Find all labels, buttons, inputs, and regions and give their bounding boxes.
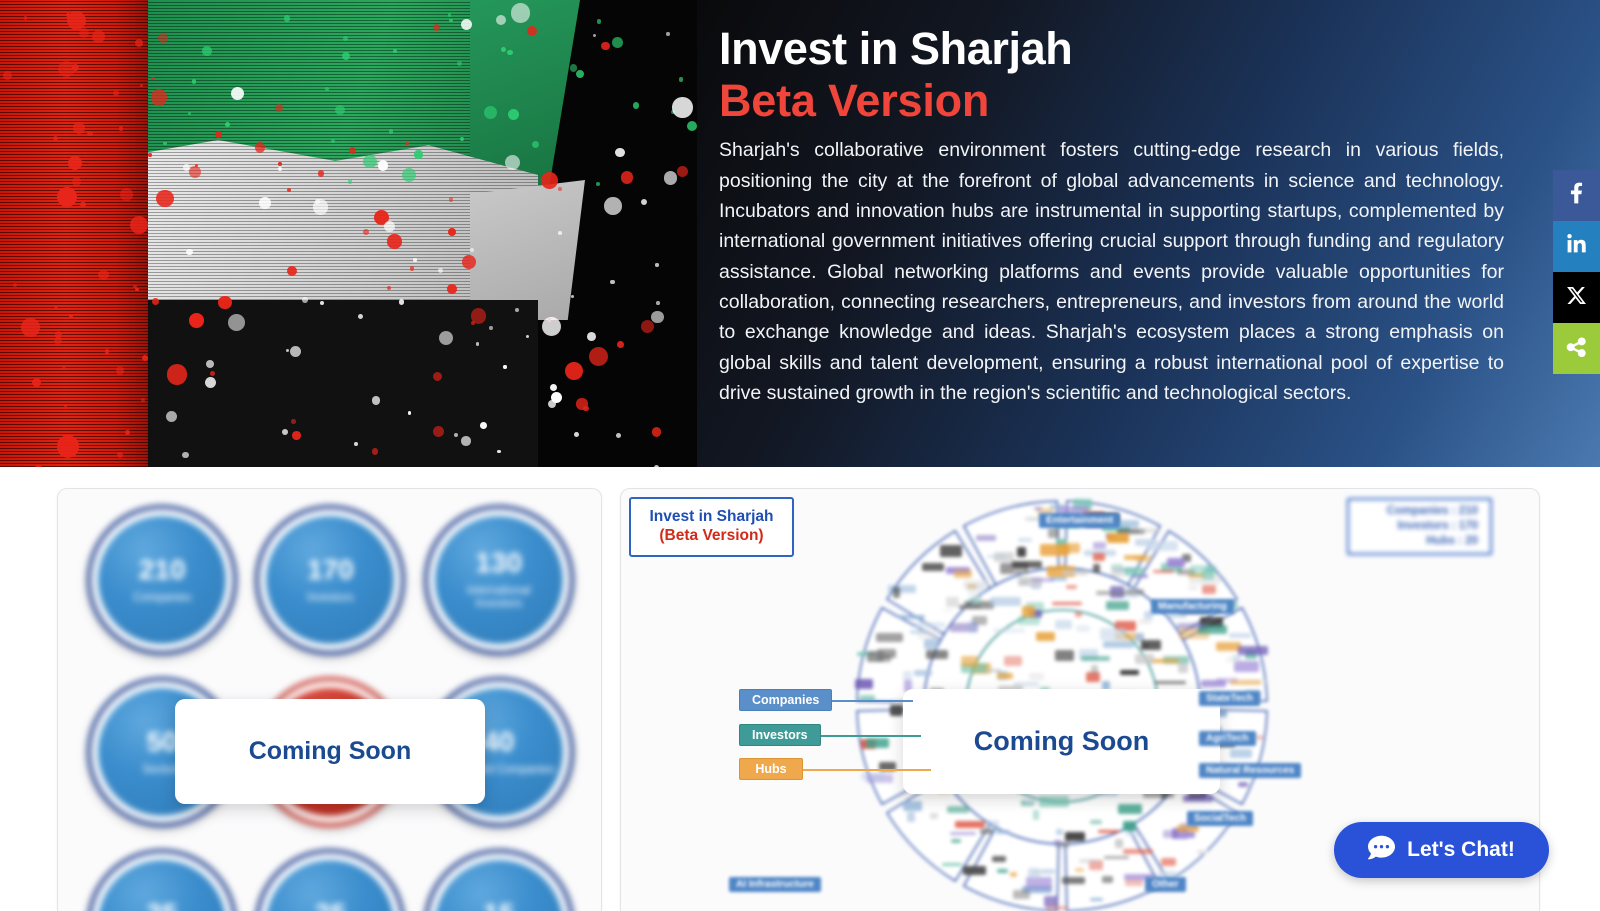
ecosystem-logo-tile xyxy=(993,628,1025,633)
ecosystem-title-box: Invest in Sharjah (Beta Version) xyxy=(629,497,794,557)
particle xyxy=(447,284,457,294)
particle xyxy=(218,296,232,310)
ecosystem-logo-tile xyxy=(1177,623,1206,629)
particle xyxy=(125,430,129,434)
linkedin-icon xyxy=(1566,234,1587,260)
ecosystem-logo-tile xyxy=(959,605,981,609)
particle xyxy=(325,87,329,91)
particle xyxy=(687,121,697,131)
particle xyxy=(215,131,222,138)
ecosystem-logo-tile xyxy=(951,839,960,843)
particle xyxy=(571,295,574,298)
sector-tag[interactable]: StateTech xyxy=(1199,691,1260,706)
ecosystem-logo-tile xyxy=(1123,849,1153,854)
particle xyxy=(679,77,683,81)
particle xyxy=(664,171,677,184)
share-facebook-button[interactable] xyxy=(1553,170,1600,221)
ecosystem-logo-tile xyxy=(1135,555,1152,561)
ecosystem-logo-tile xyxy=(963,866,987,875)
particle xyxy=(507,50,512,55)
particle xyxy=(550,384,557,391)
particle xyxy=(130,216,148,234)
ecosystem-logo-tile xyxy=(961,656,979,667)
stat-circle-inner: 130International Investors xyxy=(435,516,563,644)
ecosystem-logo-tile xyxy=(1075,612,1082,617)
ecosystem-logo-tile xyxy=(1090,820,1102,824)
ecosystem-logo-tile xyxy=(955,821,985,828)
ecosystem-logo-tile xyxy=(866,738,889,748)
particle xyxy=(633,102,639,108)
ecosystem-logo-tile xyxy=(946,597,959,607)
particle xyxy=(449,197,454,202)
particle xyxy=(542,317,561,336)
particle xyxy=(601,42,609,50)
particle xyxy=(142,355,148,361)
particle xyxy=(497,450,500,453)
particle xyxy=(454,433,458,437)
share-linkedin-button[interactable] xyxy=(1553,221,1600,272)
particle xyxy=(13,283,17,287)
total-investors: Investors : 170 xyxy=(1397,519,1478,534)
particle xyxy=(302,297,308,303)
stat-label: Companies xyxy=(133,592,191,605)
particle xyxy=(470,248,474,252)
particle xyxy=(167,364,188,385)
particle xyxy=(604,197,622,215)
particle xyxy=(672,97,692,117)
particle xyxy=(342,52,351,61)
ecosystem-logo-tile xyxy=(903,801,921,811)
ecosystem-logo-tile xyxy=(1096,591,1127,596)
particle xyxy=(202,46,212,56)
coming-soon-overlay-left: Coming Soon xyxy=(175,699,485,804)
ecosystem-logo-tile xyxy=(1135,654,1154,664)
particle xyxy=(189,166,201,178)
ecosystem-logo-tile xyxy=(968,597,982,604)
ecosystem-logo-tile xyxy=(1100,628,1126,640)
ecosystem-logo-tile xyxy=(1018,616,1040,625)
ecosystem-logo-tile xyxy=(910,630,926,634)
stat-circle-inner: 15Research Centres xyxy=(435,860,563,911)
particle xyxy=(461,19,472,30)
sector-tag[interactable]: AgriTech xyxy=(1199,731,1256,746)
ecosystem-logo-tile xyxy=(1115,839,1123,849)
particle xyxy=(570,64,577,71)
particle xyxy=(182,452,189,459)
particle xyxy=(21,318,39,336)
x-twitter-icon xyxy=(1566,285,1587,311)
particle xyxy=(287,266,297,276)
particle xyxy=(656,301,660,305)
particle xyxy=(372,448,378,454)
hero-body-text: Sharjah's collaborative environment fost… xyxy=(719,135,1504,408)
particle xyxy=(508,109,519,120)
ecosystem-logo-tile xyxy=(1123,821,1136,830)
particle xyxy=(378,160,389,171)
page-root: Invest in Sharjah Beta Version Sharjah's… xyxy=(0,0,1600,911)
ecosystem-title-line2: (Beta Version) xyxy=(659,527,763,546)
ecosystem-logo-tile xyxy=(1010,872,1017,877)
facebook-icon xyxy=(1570,181,1583,210)
ecosystem-logo-tile xyxy=(1028,868,1041,879)
particle xyxy=(205,377,216,388)
particle xyxy=(358,314,363,319)
ecosystem-logo-tile xyxy=(1036,632,1055,641)
stat-value: 35 xyxy=(147,900,178,911)
particle xyxy=(291,419,296,424)
particle xyxy=(565,362,583,380)
particle xyxy=(652,427,661,436)
particle xyxy=(615,148,624,157)
total-hubs: Hubs : 20 xyxy=(1426,534,1478,549)
ecosystem-logo-tile xyxy=(987,555,1007,558)
legend-connector-investors xyxy=(803,735,921,737)
ecosystem-logo-tile xyxy=(1163,830,1179,838)
ecosystem-logo-tile xyxy=(1165,614,1187,618)
stat-circle[interactable]: 15Research Centres xyxy=(424,849,574,911)
particle xyxy=(151,89,167,105)
ecosystem-logo-tile xyxy=(968,621,977,632)
sector-tag[interactable]: Manufacturing xyxy=(1151,599,1234,614)
particle xyxy=(448,13,452,17)
share-x-button[interactable] xyxy=(1553,272,1600,323)
chat-widget-button[interactable]: Let's Chat! xyxy=(1334,822,1549,878)
particle xyxy=(158,33,168,43)
particle xyxy=(151,77,154,80)
ecosystem-logo-tile xyxy=(1004,656,1022,666)
ecosystem-logo-tile xyxy=(947,806,969,813)
ecosystem-logo-tile xyxy=(890,705,903,716)
ecosystem-logo-tile xyxy=(1124,567,1143,575)
sector-tag[interactable]: Other xyxy=(1145,877,1186,892)
particle xyxy=(621,171,633,183)
ecosystem-logo-tile xyxy=(943,609,954,612)
ecosystem-logo-tile xyxy=(1141,640,1161,650)
ecosystem-logo-tile xyxy=(950,832,976,836)
sector-tag[interactable]: Natural Resources xyxy=(1199,763,1301,778)
hero-section: Invest in Sharjah Beta Version Sharjah's… xyxy=(0,0,1600,467)
particle xyxy=(55,331,62,338)
ecosystem-logo-tile xyxy=(980,829,993,834)
particle xyxy=(589,347,608,366)
particle xyxy=(72,64,79,71)
particle xyxy=(410,266,415,271)
particle xyxy=(448,228,456,236)
particle xyxy=(119,126,123,130)
particle xyxy=(290,346,301,357)
particle xyxy=(148,153,151,156)
particle xyxy=(616,433,621,438)
ecosystem-logo-tile xyxy=(1076,625,1090,631)
ecosystem-logo-tile xyxy=(1102,876,1113,883)
sector-tag[interactable]: Entertainment xyxy=(1039,513,1120,528)
particle xyxy=(133,285,136,288)
particle xyxy=(24,16,28,20)
ecosystem-logo-tile xyxy=(940,545,962,556)
particle xyxy=(349,147,356,154)
ecosystem-logo-tile xyxy=(1161,858,1177,866)
particle xyxy=(320,301,324,305)
ecosystem-logo-tile xyxy=(1044,896,1058,907)
ecosystem-logo-tile xyxy=(1091,665,1098,673)
particle xyxy=(666,32,669,35)
ecosystem-logo-tile xyxy=(899,615,925,619)
stat-value: 25 xyxy=(315,900,346,911)
particle xyxy=(225,122,230,127)
particle xyxy=(576,70,584,78)
ecosystem-logo-tile xyxy=(997,869,1007,873)
particle xyxy=(612,37,622,47)
ecosystem-logo-tile xyxy=(907,812,915,822)
particle xyxy=(408,411,411,414)
legend-connector-hubs xyxy=(803,769,931,771)
ecosystem-logo-tile xyxy=(1075,868,1085,872)
particle xyxy=(73,122,85,134)
ecosystem-logo-tile xyxy=(1153,570,1174,573)
stat-value: 170 xyxy=(307,556,354,584)
ecosystem-logo-tile xyxy=(1029,673,1044,680)
ecosystem-logo-tile xyxy=(1190,565,1216,575)
chat-widget-label: Let's Chat! xyxy=(1407,838,1515,862)
particle xyxy=(189,313,204,328)
stat-circle[interactable]: 130International Investors xyxy=(424,505,574,655)
hero-copy: Invest in Sharjah Beta Version Sharjah's… xyxy=(697,0,1600,467)
ecosystem-logo-tile xyxy=(1024,800,1037,804)
particle xyxy=(141,398,145,402)
particle xyxy=(98,270,108,280)
ecosystem-logo-tile xyxy=(1125,832,1139,836)
particle xyxy=(79,28,90,39)
page-title: Invest in Sharjah xyxy=(719,24,1504,74)
stat-circle[interactable]: 170Investors xyxy=(255,505,405,655)
ecosystem-logo-tile xyxy=(1090,898,1104,902)
particle xyxy=(32,378,41,387)
particle xyxy=(348,179,353,184)
ecosystem-logo-tile xyxy=(1238,782,1248,786)
ecosystem-logo-tile xyxy=(926,650,948,659)
ecosystem-logo-tile xyxy=(1041,869,1055,874)
ecosystem-logo-tile xyxy=(1155,681,1186,685)
particle xyxy=(354,442,358,446)
particle xyxy=(318,170,324,176)
particle xyxy=(641,199,647,205)
particle xyxy=(617,341,624,348)
ecosystem-logo-tile xyxy=(1147,541,1178,552)
particle xyxy=(433,372,442,381)
particle xyxy=(57,187,77,207)
particle xyxy=(399,299,404,304)
particle xyxy=(292,431,301,440)
total-companies: Companies : 210 xyxy=(1387,504,1478,519)
particle xyxy=(152,298,159,305)
stat-label: International Investors xyxy=(443,585,555,611)
particle xyxy=(610,280,614,284)
ecosystem-logo-tile xyxy=(954,570,972,578)
ecosystem-logo-tile xyxy=(1178,663,1189,673)
share-more-button[interactable] xyxy=(1553,323,1600,374)
particle xyxy=(363,155,376,168)
particle xyxy=(496,15,506,25)
particle xyxy=(343,36,348,41)
particle xyxy=(62,366,66,370)
ecosystem-logo-tile xyxy=(1081,656,1110,661)
ecosystem-logo-tile xyxy=(1056,829,1063,834)
stat-circle-inner: 35Accelerators xyxy=(98,860,226,911)
particle xyxy=(471,321,475,325)
stat-circle-inner: 170Investors xyxy=(266,516,394,644)
stat-circle[interactable]: 35Accelerators xyxy=(87,849,237,911)
ecosystem-logo-tile xyxy=(1139,528,1160,532)
particle xyxy=(587,332,596,341)
ecosystem-logo-tile xyxy=(924,639,938,649)
particle xyxy=(596,182,600,186)
ecosystem-logo-tile xyxy=(855,679,873,689)
particle xyxy=(54,305,58,309)
ecosystem-logo-tile xyxy=(1238,646,1268,655)
ecosystem-logo-tile xyxy=(1055,650,1074,661)
particle xyxy=(489,326,492,329)
ecosystem-logo-tile xyxy=(922,563,943,571)
ecosystem-logo-tile xyxy=(1034,507,1042,510)
stat-value: 210 xyxy=(139,556,186,584)
particle xyxy=(278,162,282,166)
stat-circle[interactable]: 25Universities xyxy=(255,849,405,911)
stat-value: 130 xyxy=(475,549,522,577)
legend-chip-hubs[interactable]: Hubs xyxy=(739,758,803,780)
ecosystem-logo-tile xyxy=(1230,749,1252,758)
ecosystem-logo-tile xyxy=(876,633,903,642)
particle xyxy=(331,139,335,143)
ecosystem-logo-tile xyxy=(1039,796,1069,807)
ecosystem-logo-tile xyxy=(996,830,1010,834)
stat-value: 40 xyxy=(483,728,514,756)
stat-label: Investors xyxy=(307,592,354,605)
particle xyxy=(484,106,497,119)
particle xyxy=(80,202,86,208)
ecosystem-logo-tile xyxy=(1202,585,1217,594)
particle xyxy=(188,112,191,115)
particle xyxy=(593,34,596,37)
particle xyxy=(389,129,393,133)
ecosystem-logo-tile xyxy=(967,583,983,593)
stat-circle-inner: 210Companies xyxy=(98,516,226,644)
particle xyxy=(259,197,270,208)
stat-value: 15 xyxy=(483,900,514,911)
particle xyxy=(548,400,556,408)
particle xyxy=(461,436,470,445)
sector-tag[interactable]: AI Infrastructure xyxy=(729,877,821,892)
particle xyxy=(87,131,92,136)
ecosystem-logo-tile xyxy=(1017,547,1026,557)
particle xyxy=(387,286,392,291)
ecosystem-logo-tile xyxy=(1188,586,1199,590)
ecosystem-logo-tile xyxy=(1062,570,1088,575)
particle xyxy=(574,432,579,437)
ecosystem-logo-tile xyxy=(1022,606,1034,617)
ecosystem-logo-tile xyxy=(1066,585,1077,590)
particle xyxy=(363,229,369,235)
ecosystem-logo-tile xyxy=(1201,680,1226,687)
particle xyxy=(433,426,444,437)
particle xyxy=(3,71,11,79)
ecosystem-logo-tile xyxy=(1086,672,1100,682)
particle xyxy=(116,366,125,375)
ecosystem-logo-tile xyxy=(1012,561,1042,568)
ecosystem-logo-tile xyxy=(893,587,900,598)
ecosystem-logo-tile xyxy=(1062,877,1085,884)
stat-circle[interactable]: 210Companies xyxy=(87,505,237,655)
particle xyxy=(384,221,395,232)
particle xyxy=(402,168,416,182)
particle xyxy=(287,188,291,192)
legend-chip-investors[interactable]: Investors xyxy=(739,724,821,746)
particle xyxy=(57,435,79,457)
particle xyxy=(526,335,529,338)
ecosystem-logo-tile xyxy=(997,673,1013,680)
ecosystem-logo-tile xyxy=(1103,641,1134,648)
particle xyxy=(462,255,476,269)
particle xyxy=(532,141,539,148)
legend-chip-companies[interactable]: Companies xyxy=(739,689,832,711)
ecosystem-logo-tile xyxy=(1055,620,1073,629)
particle xyxy=(140,84,143,87)
particle xyxy=(135,288,138,291)
ecosystem-logo-tile xyxy=(976,535,996,541)
ecosystem-logo-tile xyxy=(1031,578,1054,582)
ecosystem-logo-tile xyxy=(1054,840,1061,844)
particle xyxy=(282,429,288,435)
hero-flag-animation xyxy=(0,0,697,467)
ecosystem-logo-tile xyxy=(914,670,932,675)
totals-legend-box: Companies : 210 Investors : 170 Hubs : 2… xyxy=(1347,498,1492,555)
particle xyxy=(372,396,380,404)
ecosystem-logo-tile xyxy=(1026,877,1052,889)
particle xyxy=(541,172,558,189)
particle xyxy=(210,371,215,376)
sector-tag[interactable]: SocialTech xyxy=(1187,811,1253,826)
particle xyxy=(527,26,537,36)
stats-card: 210Companies170Investors130International… xyxy=(57,488,602,911)
ecosystem-logo-tile xyxy=(942,863,961,867)
particle xyxy=(476,342,480,346)
ecosystem-logo-tile xyxy=(1018,538,1033,543)
ecosystem-logo-tile xyxy=(1107,533,1129,543)
ecosystem-logo-tile xyxy=(1183,795,1213,803)
particle xyxy=(503,365,506,368)
particle xyxy=(413,258,416,261)
ecosystem-logo-tile xyxy=(1048,528,1058,538)
ecosystem-logo-tile xyxy=(861,772,884,780)
ecosystem-logo-tile xyxy=(1033,810,1039,820)
particle xyxy=(315,199,319,203)
stat-circle-inner: 25Universities xyxy=(266,860,394,911)
particle xyxy=(275,104,283,112)
ecosystem-logo-tile xyxy=(867,651,885,661)
particle xyxy=(286,349,289,352)
ecosystem-logo-tile xyxy=(1230,680,1261,684)
particle xyxy=(68,156,82,170)
ecosystem-logo-tile xyxy=(1093,553,1106,561)
ecosystem-logo-tile xyxy=(1139,619,1152,624)
ecosystem-logo-tile xyxy=(1226,657,1240,664)
particle xyxy=(480,422,487,429)
particle xyxy=(192,79,197,84)
particle xyxy=(501,47,506,52)
particle xyxy=(206,360,214,368)
particle xyxy=(231,87,244,100)
particle xyxy=(433,24,440,31)
particle xyxy=(67,11,86,30)
